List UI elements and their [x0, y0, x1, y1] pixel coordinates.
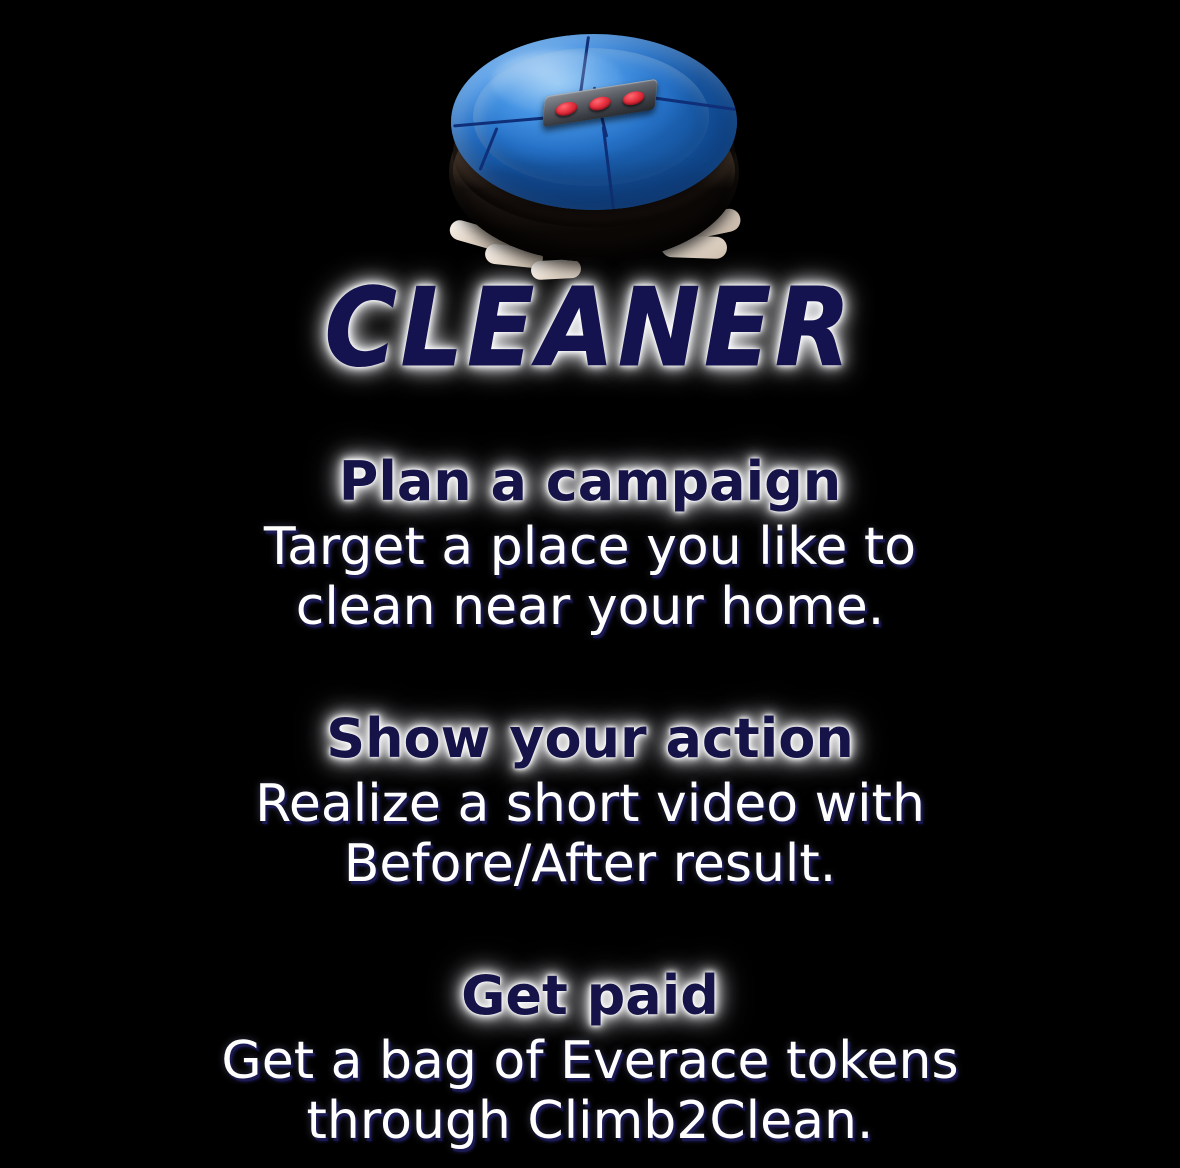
robot-vacuum-icon — [443, 22, 763, 290]
step-heading: Plan a campaign — [0, 452, 1180, 512]
power-button-icon — [555, 100, 578, 117]
brand-title-row: CLEANER — [0, 272, 1180, 384]
page-title: CLEANER — [325, 265, 855, 390]
step-heading: Get paid — [0, 966, 1180, 1026]
step-get-paid: Get paid Get a bag of Everace tokens thr… — [0, 966, 1180, 1151]
step-description: Target a place you like to clean near yo… — [0, 518, 1180, 637]
promo-card: CLEANER Plan a campaign Target a place y… — [0, 0, 1180, 1168]
mode-button-icon — [589, 95, 612, 112]
step-plan-a-campaign: Plan a campaign Target a place you like … — [0, 452, 1180, 637]
step-heading: Show your action — [0, 709, 1180, 769]
dock-button-icon — [622, 89, 645, 106]
step-description: Realize a short video with Before/After … — [0, 775, 1180, 894]
dome-bottom-shadow — [471, 156, 721, 210]
hero-illustration — [0, 0, 1180, 290]
robot-dome — [451, 34, 737, 210]
step-show-your-action: Show your action Realize a short video w… — [0, 709, 1180, 894]
step-description: Get a bag of Everace tokens through Clim… — [0, 1032, 1180, 1151]
steps-list: Plan a campaign Target a place you like … — [0, 452, 1180, 1151]
